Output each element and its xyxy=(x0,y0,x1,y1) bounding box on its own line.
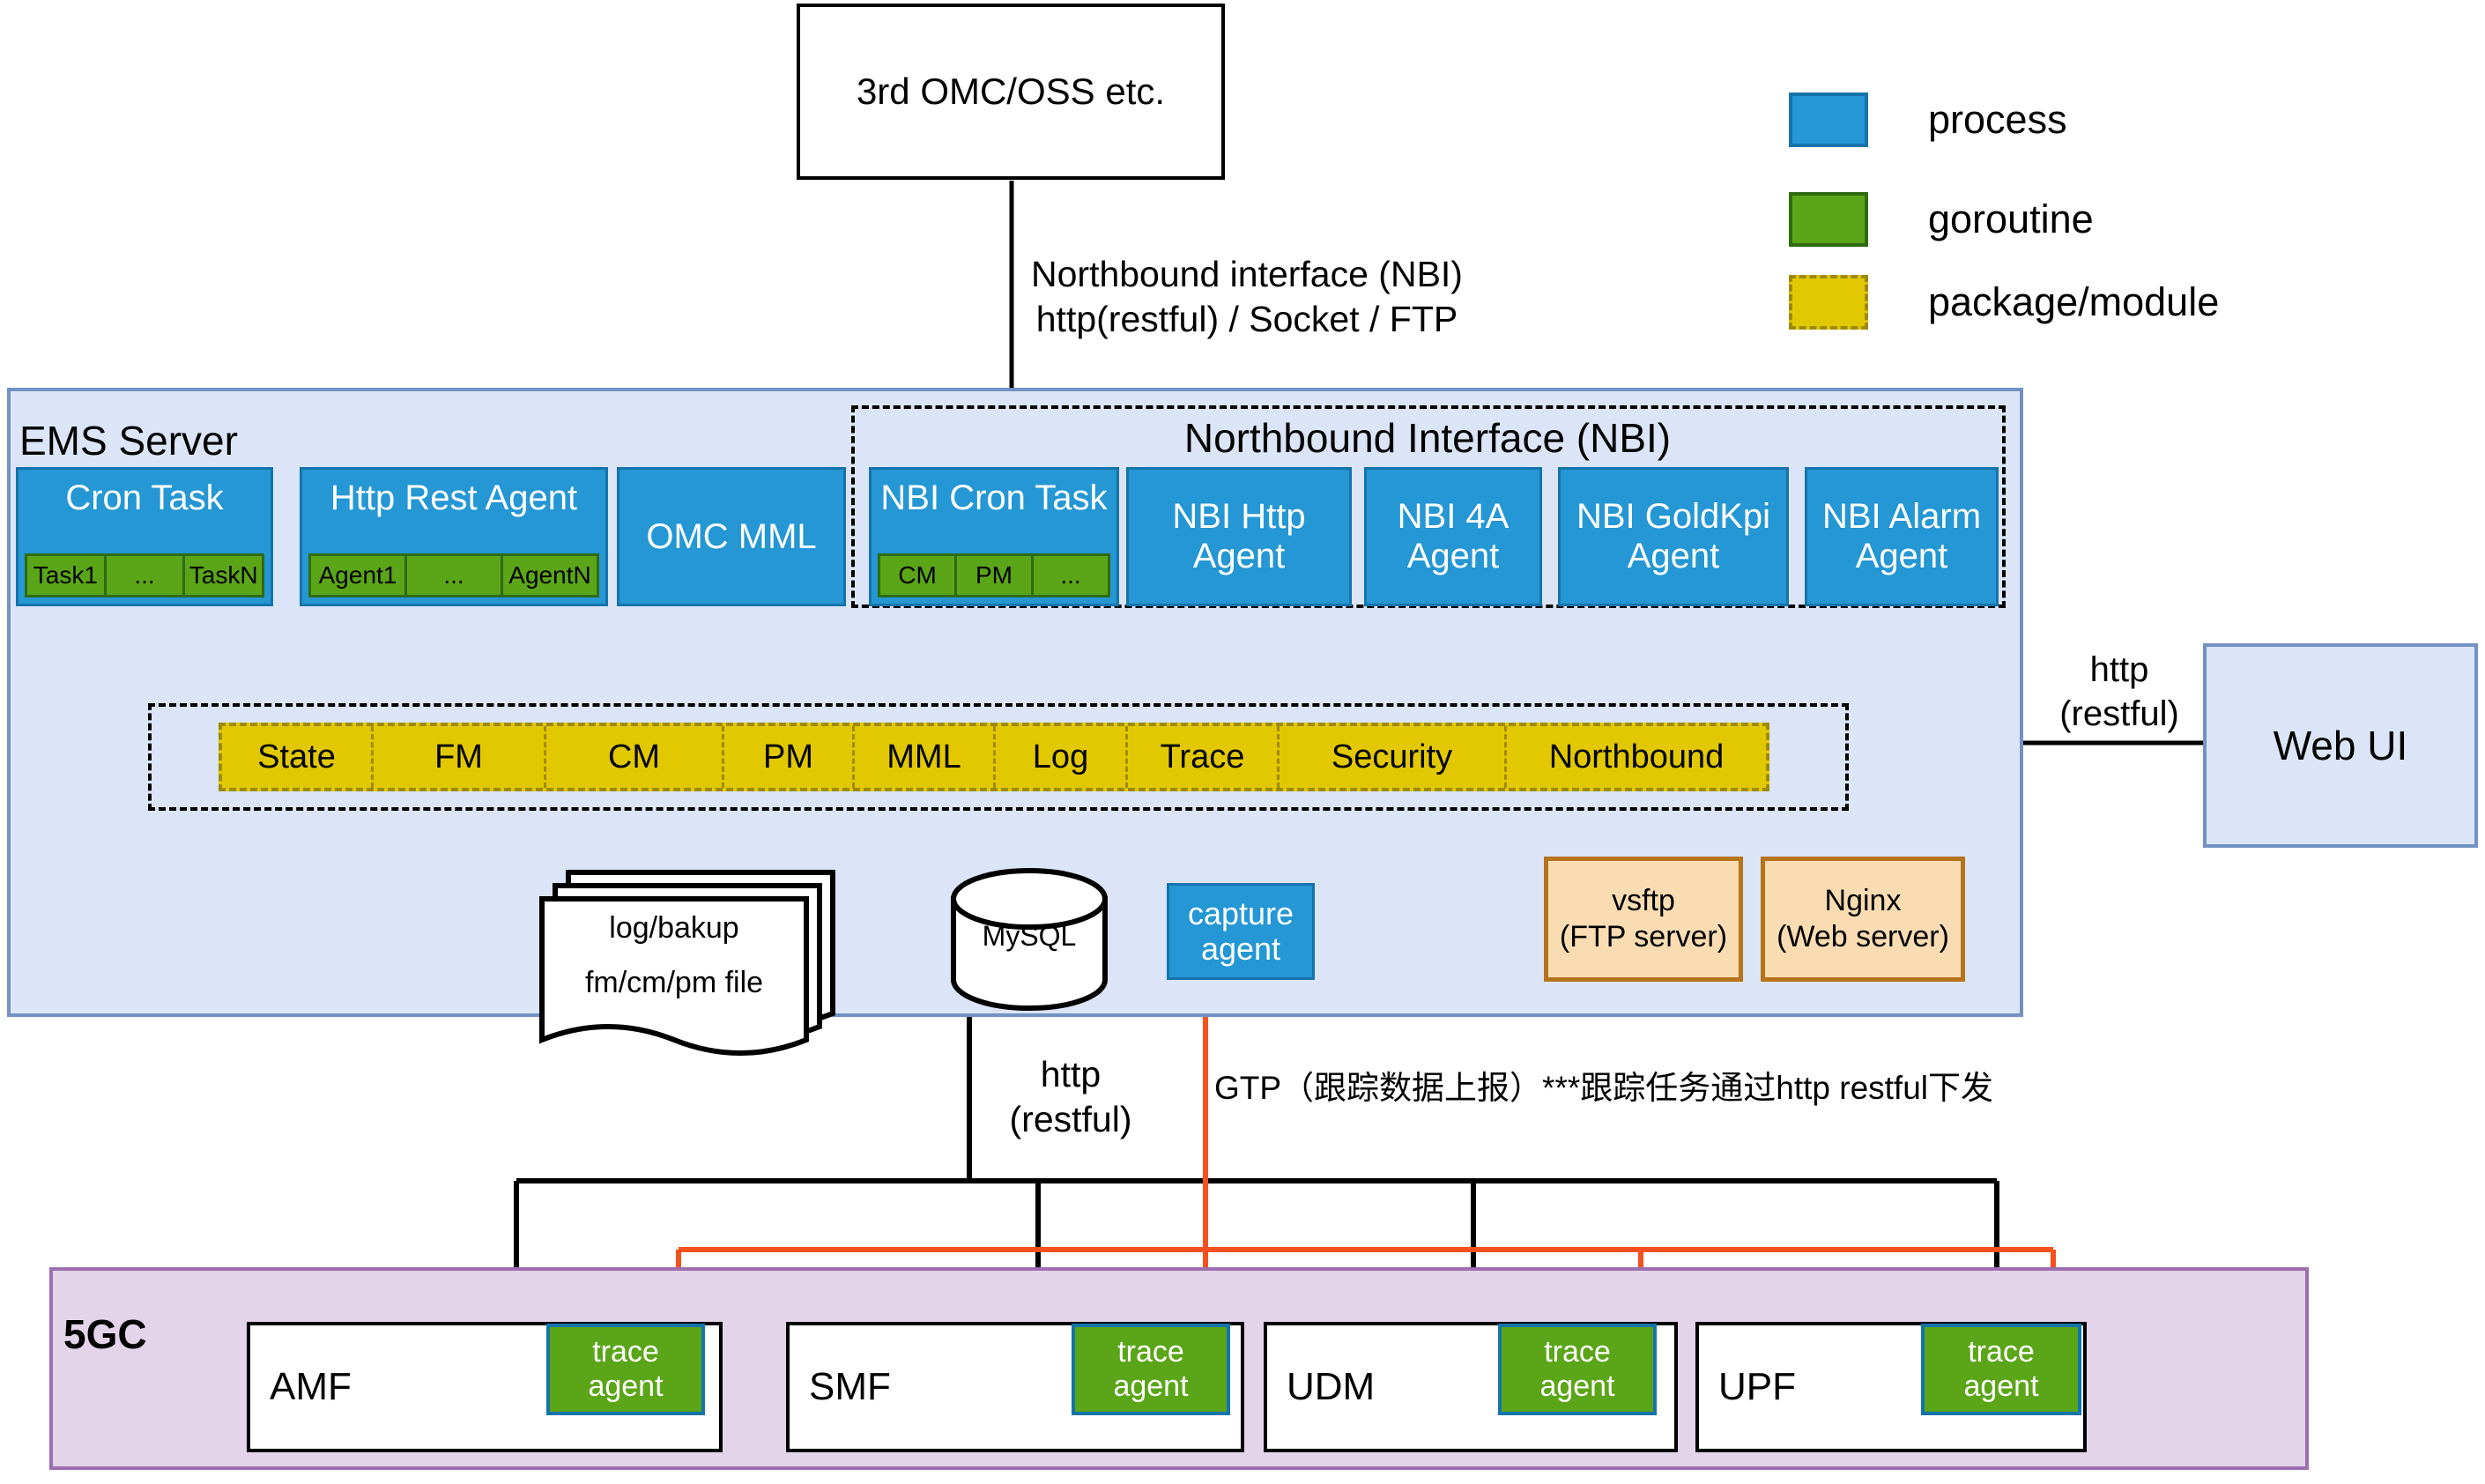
trace-agent-udm-label: trace agent xyxy=(1539,1335,1614,1404)
nf-smf-label: SMF xyxy=(809,1365,891,1409)
mysql-label: MySQL xyxy=(953,916,1105,955)
nf-amf-label: AMF xyxy=(270,1365,352,1409)
ems-server-title: EMS Server xyxy=(19,414,389,469)
third-party-oss-box[interactable]: 3rd OMC/OSS etc. xyxy=(797,4,1225,180)
nf-udm-label: UDM xyxy=(1287,1365,1375,1409)
log-file-line1: log/bakup xyxy=(542,906,806,950)
gtp-annotation-label: GTP（跟踪数据上报）***跟踪任务通过http restful下发 xyxy=(1214,1057,2096,1119)
core-network-title: 5GC xyxy=(63,1310,213,1361)
goroutine-cell[interactable]: AgentN xyxy=(503,556,597,595)
legend-label-package: package/module xyxy=(1928,275,2386,330)
package-mml[interactable]: MML xyxy=(855,726,996,788)
goroutine-cell[interactable]: CM xyxy=(880,556,957,595)
legend-swatch-process xyxy=(1789,93,1868,147)
nginx-name: Nginx xyxy=(1825,883,1902,919)
process-nbi-4a-agent-label: NBI 4A Agent xyxy=(1367,497,1539,576)
process-nbi-http-agent-label: NBI Http Agent xyxy=(1129,497,1349,576)
process-nbi-alarm-agent-label: NBI Alarm Agent xyxy=(1807,497,1996,576)
trace-agent-udm[interactable]: trace agent xyxy=(1498,1324,1657,1415)
goroutine-row-cron-task: Task1 ... TaskN xyxy=(25,553,264,597)
process-omc-mml[interactable]: OMC MML xyxy=(617,467,846,606)
vsftp-name: vsftp xyxy=(1612,883,1675,919)
goroutine-row-nbi-cron-task: CM PM ... xyxy=(878,553,1110,597)
trace-agent-amf-label: trace agent xyxy=(588,1335,663,1404)
package-fm[interactable]: FM xyxy=(374,726,546,788)
legend-swatch-goroutine xyxy=(1789,192,1868,247)
northbound-link-label: Northbound interface (NBI) http(restful)… xyxy=(1031,249,1648,345)
log-file-line2: fm/cm/pm file xyxy=(536,961,812,1005)
process-nbi-cron-task-label: NBI Cron Task xyxy=(872,470,1116,518)
southbound-http-label: http (restful) xyxy=(978,1049,1163,1146)
goroutine-cell[interactable]: ... xyxy=(107,556,186,595)
trace-agent-smf-label: trace agent xyxy=(1113,1335,1188,1404)
goroutine-cell[interactable]: ... xyxy=(407,556,503,595)
legend-label-process: process xyxy=(1928,93,2298,147)
nginx-server-box[interactable]: Nginx (Web server) xyxy=(1761,857,1965,982)
package-log[interactable]: Log xyxy=(996,726,1128,788)
package-northbound[interactable]: Northbound xyxy=(1507,726,1766,788)
package-security[interactable]: Security xyxy=(1280,726,1507,788)
nf-upf-label: UPF xyxy=(1718,1365,1796,1409)
architecture-diagram: 3rd OMC/OSS etc. Northbound interface (N… xyxy=(0,0,2485,1484)
vsftp-server-box[interactable]: vsftp (FTP server) xyxy=(1544,857,1743,982)
process-nbi-http-agent[interactable]: NBI Http Agent xyxy=(1126,467,1352,606)
process-omc-mml-label: OMC MML xyxy=(619,517,843,557)
trace-agent-smf[interactable]: trace agent xyxy=(1072,1324,1230,1415)
nbi-group-title: Northbound Interface (NBI) xyxy=(881,411,1974,467)
web-ui-box[interactable]: Web UI xyxy=(2203,643,2478,848)
goroutine-cell[interactable]: Task1 xyxy=(27,556,107,595)
trace-agent-upf[interactable]: trace agent xyxy=(1921,1324,2081,1415)
goroutine-row-http-rest-agent: Agent1 ... AgentN xyxy=(308,553,599,597)
process-nbi-4a-agent[interactable]: NBI 4A Agent xyxy=(1364,467,1542,606)
legend-swatch-package xyxy=(1789,275,1868,330)
process-nbi-goldkpi-agent-label: NBI GoldKpi Agent xyxy=(1561,497,1786,576)
process-cron-task-label: Cron Task xyxy=(19,470,271,518)
capture-agent-label: capture agent xyxy=(1169,896,1312,968)
third-party-oss-label: 3rd OMC/OSS etc. xyxy=(857,70,1165,113)
nginx-role: (Web server) xyxy=(1777,919,1949,955)
goroutine-cell[interactable]: PM xyxy=(957,556,1034,595)
package-pm[interactable]: PM xyxy=(724,726,855,788)
goroutine-cell[interactable]: ... xyxy=(1034,556,1108,595)
web-ui-link-label: http (restful) xyxy=(2036,643,2203,740)
process-nbi-alarm-agent[interactable]: NBI Alarm Agent xyxy=(1805,467,1999,606)
capture-agent-box[interactable]: capture agent xyxy=(1167,883,1315,980)
package-cm[interactable]: CM xyxy=(546,726,724,788)
package-state[interactable]: State xyxy=(222,726,374,788)
process-http-rest-agent-label: Http Rest Agent xyxy=(302,470,605,518)
trace-agent-upf-label: trace agent xyxy=(1963,1335,2038,1404)
package-module-band: State FM CM PM MML Log Trace Security No… xyxy=(219,723,1769,791)
package-trace[interactable]: Trace xyxy=(1128,726,1280,788)
process-nbi-goldkpi-agent[interactable]: NBI GoldKpi Agent xyxy=(1558,467,1789,606)
vsftp-role: (FTP server) xyxy=(1560,919,1727,955)
legend-label-goroutine: goroutine xyxy=(1928,192,2298,247)
web-ui-label: Web UI xyxy=(2274,722,2408,769)
goroutine-cell[interactable]: TaskN xyxy=(185,556,262,595)
trace-agent-amf[interactable]: trace agent xyxy=(546,1324,705,1415)
goroutine-cell[interactable]: Agent1 xyxy=(311,556,407,595)
